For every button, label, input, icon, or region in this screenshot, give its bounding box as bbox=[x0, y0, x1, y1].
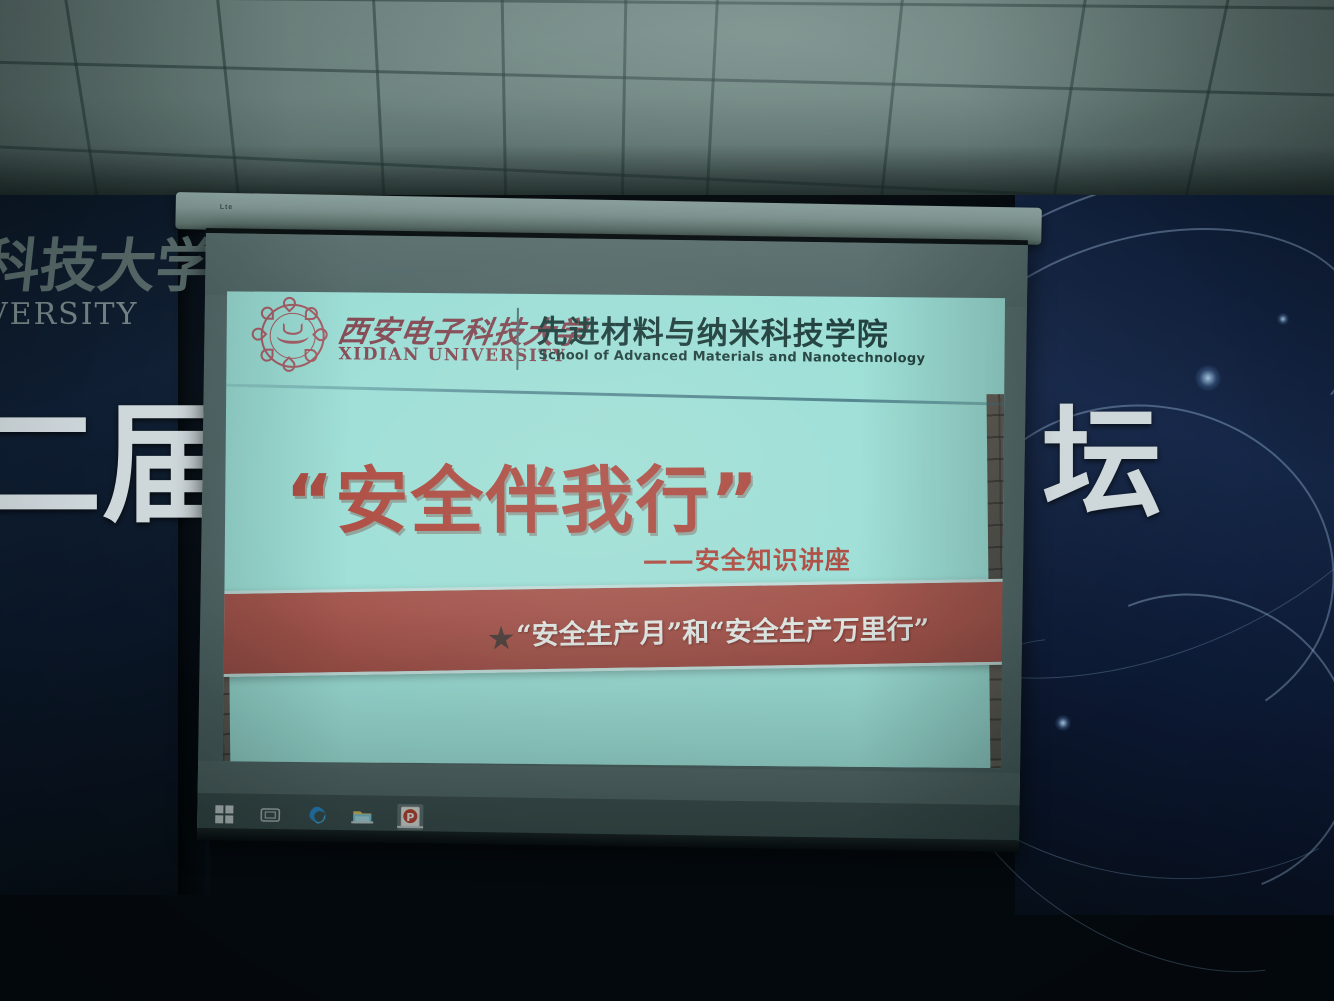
school-name-en: School of Advanced Materials and Nanotec… bbox=[538, 348, 925, 366]
active-window-indicator bbox=[397, 826, 423, 828]
windows-logo-icon bbox=[213, 803, 235, 825]
edge-button[interactable] bbox=[305, 805, 327, 827]
school-name-cn: 先进材料与纳米科技学院 bbox=[537, 306, 889, 354]
active-window-indicator bbox=[351, 821, 373, 823]
task-view-button[interactable] bbox=[259, 804, 281, 826]
powerpoint-button[interactable]: P bbox=[397, 804, 423, 830]
edge-icon bbox=[305, 805, 327, 827]
folder-icon bbox=[351, 805, 373, 827]
projection-screen: 西安电子科技大学 XIDIAN UNIVERSITY 先进材料与纳米科技学院 S… bbox=[197, 228, 1028, 850]
backdrop-left-char: 二届 bbox=[0, 400, 232, 530]
xidian-university-seal-icon bbox=[260, 304, 325, 369]
slide-banner: “安全生产月”和“安全生产万里行” bbox=[223, 578, 1005, 677]
university-name-en: XIDIAN UNIVERSITY bbox=[338, 344, 566, 366]
slide-header: 西安电子科技大学 XIDIAN UNIVERSITY 先进材料与纳米科技学院 S… bbox=[226, 291, 1005, 386]
file-explorer-button[interactable] bbox=[351, 805, 373, 827]
backdrop-right-char: 坛 bbox=[1042, 405, 1162, 525]
slide-subtitle: ——安全知识讲座 bbox=[643, 541, 851, 577]
housing-brand-label: Lte bbox=[220, 204, 234, 211]
svg-text:P: P bbox=[406, 811, 414, 824]
star-bullet-icon bbox=[488, 625, 514, 651]
task-view-icon bbox=[259, 804, 281, 826]
projected-display: 西安电子科技大学 XIDIAN UNIVERSITY 先进材料与纳米科技学院 S… bbox=[197, 233, 1028, 845]
slide-cyan-panel bbox=[226, 371, 990, 768]
slide-title: “安全伴我行” bbox=[285, 441, 760, 548]
ceiling bbox=[0, 0, 1334, 215]
backdrop-top-en: VERSITY bbox=[0, 300, 138, 330]
slide-banner-text: “安全生产月”和“安全生产万里行” bbox=[516, 607, 930, 652]
lecture-hall-photo: 科技大学 VERSITY 二届 坛 记 区 Lte bbox=[0, 0, 1334, 1001]
backdrop-top-cn: 科技大学 bbox=[0, 237, 217, 295]
start-button[interactable] bbox=[213, 803, 235, 825]
powerpoint-slide[interactable]: 西安电子科技大学 XIDIAN UNIVERSITY 先进材料与纳米科技学院 S… bbox=[223, 291, 1005, 768]
backdrop-right-panel bbox=[1015, 195, 1334, 915]
